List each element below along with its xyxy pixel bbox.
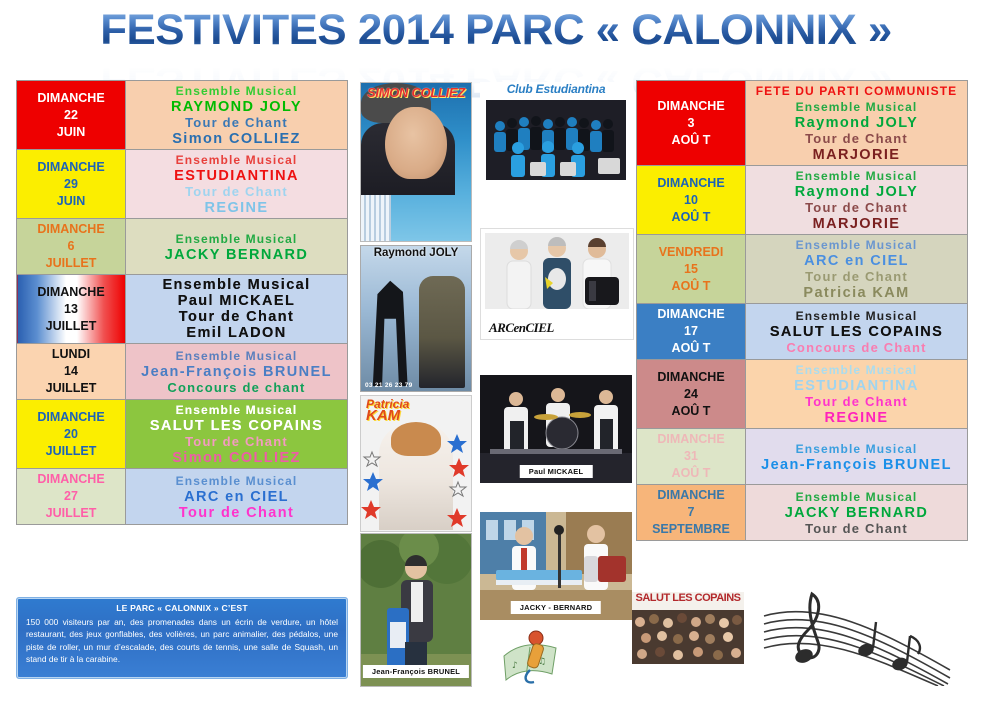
table-row: DIMANCHE17AOÛ TEnsemble MusicalSALUT LES… bbox=[637, 304, 968, 360]
microphone-songbook-icon: ♪ ♫ bbox=[500, 628, 564, 686]
orchestra-figures-icon bbox=[486, 100, 626, 180]
patricia-line2: KAM bbox=[366, 407, 400, 424]
date-num: 24 bbox=[639, 386, 743, 403]
photo-jean-francois-brunel: Jean-François BRUNEL bbox=[360, 533, 472, 687]
date-month: JUILLET bbox=[19, 255, 123, 272]
svg-text:♪: ♪ bbox=[512, 661, 518, 671]
date-num: 7 bbox=[639, 504, 743, 521]
schedule-left-body: DIMANCHE22JUINEnsemble MusicalRAYMOND JO… bbox=[17, 81, 348, 525]
table-row: DIMANCHE22JUINEnsemble MusicalRAYMOND JO… bbox=[17, 81, 348, 150]
date-month: AOÛ T bbox=[639, 340, 743, 357]
date-day: DIMANCHE bbox=[19, 221, 123, 238]
photo-phone-number: 03 21 26 23 79 bbox=[365, 382, 413, 389]
date-month: JUILLET bbox=[19, 318, 123, 335]
date-month: JUILLET bbox=[19, 443, 123, 460]
date-num: 13 bbox=[19, 301, 123, 318]
program-line: Simon COLLIEZ bbox=[128, 131, 345, 147]
date-month: AOÛ T bbox=[639, 278, 743, 295]
program-line: Ensemble Musical bbox=[748, 99, 965, 115]
program-line: Emil LADON bbox=[128, 325, 345, 341]
program-line: Raymond JOLY bbox=[748, 184, 965, 200]
photo-raymond-joly: Raymond JOLY 03 21 26 23 79 bbox=[360, 245, 472, 392]
park-info-body: 150 000 visiteurs par an, des promenades… bbox=[26, 616, 338, 666]
date-day: DIMANCHE bbox=[639, 487, 743, 504]
program-line: Raymond JOLY bbox=[748, 115, 965, 131]
table-row: DIMANCHE10AOÛ TEnsemble MusicalRaymond J… bbox=[637, 166, 968, 235]
table-row: DIMANCHE13JUILLETEnsemble MusicalPaul MI… bbox=[17, 275, 348, 344]
program-line: ESTUDIANTINA bbox=[748, 378, 965, 394]
program-cell: Ensemble MusicalSALUT LES COPAINSTour de… bbox=[126, 400, 348, 469]
date-cell: DIMANCHE3AOÛ T bbox=[637, 81, 746, 166]
program-line: SALUT LES COPAINS bbox=[748, 324, 965, 340]
photo-patricia-kam: Patricia KAM bbox=[360, 395, 472, 532]
program-line: Ensemble Musical bbox=[128, 83, 345, 99]
date-num: 15 bbox=[639, 261, 743, 278]
table-row: VENDREDI15AOÛ TEnsemble MusicalARC en CI… bbox=[637, 235, 968, 304]
photo-salut-les-copains: SALUT LES COPAINS bbox=[632, 592, 744, 664]
table-row: DIMANCHE31AOÛ TEnsemble MusicalJean-Fran… bbox=[637, 429, 968, 485]
date-num: 17 bbox=[639, 323, 743, 340]
date-num: 6 bbox=[19, 238, 123, 255]
program-line: Tour de Chant bbox=[128, 505, 345, 521]
program-cell: Ensemble MusicalARC en CIELTour de Chant bbox=[126, 469, 348, 525]
program-cell: Ensemble MusicalSALUT LES COPAINSConcour… bbox=[746, 304, 968, 360]
date-cell: DIMANCHE27JUILLET bbox=[17, 469, 126, 525]
photo-simon-colliez: SIMON COLLIEZ bbox=[360, 82, 472, 242]
schedule-right-body: DIMANCHE3AOÛ TFETE DU PARTI COMMUNISTEEn… bbox=[637, 81, 968, 541]
date-day: DIMANCHE bbox=[19, 409, 123, 426]
program-line: RAYMOND JOLY bbox=[128, 99, 345, 115]
program-cell: Ensemble MusicalJACKY BERNARD bbox=[126, 219, 348, 275]
table-row: DIMANCHE7SEPTEMBREEnsemble MusicalJACKY … bbox=[637, 485, 968, 541]
date-cell: VENDREDI15AOÛ T bbox=[637, 235, 746, 304]
program-line: Tour de Chant bbox=[128, 309, 345, 325]
program-cell: FETE DU PARTI COMMUNISTEEnsemble Musical… bbox=[746, 81, 968, 166]
date-cell: DIMANCHE29JUIN bbox=[17, 150, 126, 219]
photo-paul-mickael: Paul MICKAEL bbox=[480, 375, 632, 483]
program-line: Paul MICKAEL bbox=[128, 293, 345, 309]
program-line: REGINE bbox=[748, 410, 965, 426]
program-cell: Ensemble MusicalJean-François BRUNEL bbox=[746, 429, 968, 485]
date-cell: DIMANCHE20JUILLET bbox=[17, 400, 126, 469]
date-num: 31 bbox=[639, 448, 743, 465]
program-line: REGINE bbox=[128, 200, 345, 216]
program-line: Jean-François BRUNEL bbox=[748, 457, 965, 473]
schedule-table-right: DIMANCHE3AOÛ TFETE DU PARTI COMMUNISTEEn… bbox=[636, 80, 968, 541]
program-line: Ensemble Musical bbox=[128, 402, 345, 418]
program-line: FETE DU PARTI COMMUNISTE bbox=[748, 83, 965, 99]
photo-jacky-bernard: JACKY - BERNARD bbox=[480, 512, 632, 620]
program-line: Tour de Chant bbox=[748, 269, 965, 285]
program-line: Ensemble Musical bbox=[748, 489, 965, 505]
photo-caption-joly: Raymond JOLY bbox=[361, 247, 471, 259]
date-month: JUIN bbox=[19, 124, 123, 141]
program-line: Ensemble Musical bbox=[748, 237, 965, 253]
photo-detail bbox=[485, 233, 629, 309]
date-day: VENDREDI bbox=[639, 244, 743, 261]
program-line: Concours de Chant bbox=[748, 340, 965, 356]
date-month: AOÛ T bbox=[639, 132, 743, 149]
photo-caption-patricia: Patricia KAM bbox=[366, 398, 409, 422]
date-cell: DIMANCHE17AOÛ T bbox=[637, 304, 746, 360]
park-info-heading: LE PARC « CALONNIX » C’EST bbox=[26, 603, 338, 613]
program-line: Tour de Chant bbox=[748, 394, 965, 410]
program-line: Tour de Chant bbox=[748, 521, 965, 537]
date-month: JUILLET bbox=[19, 380, 123, 397]
photo-detail bbox=[361, 195, 391, 242]
photo-detail bbox=[632, 610, 744, 664]
table-row: DIMANCHE24AOÛ TEnsemble MusicalESTUDIANT… bbox=[637, 360, 968, 429]
photo-caption-brunel: Jean-François BRUNEL bbox=[363, 665, 469, 678]
program-cell: Ensemble MusicalESTUDIANTINATour de Chan… bbox=[746, 360, 968, 429]
table-row: LUNDI14JUILLETEnsemble MusicalJean-Franç… bbox=[17, 344, 348, 400]
table-row: DIMANCHE3AOÛ TFETE DU PARTI COMMUNISTEEn… bbox=[637, 81, 968, 166]
poster-header: FESTIVITES 2014 PARC « CALONNIX » FESTIV… bbox=[0, 4, 992, 74]
photo-caption-salut: SALUT LES COPAINS bbox=[632, 592, 744, 604]
program-line: Ensemble Musical bbox=[128, 231, 345, 247]
program-line: Tour de Chant bbox=[748, 131, 965, 147]
program-cell: Ensemble MusicalJACKY BERNARDTour de Cha… bbox=[746, 485, 968, 541]
program-line: Simon COLLIEZ bbox=[128, 450, 345, 466]
program-line: Ensemble Musical bbox=[748, 168, 965, 184]
table-row: DIMANCHE20JUILLETEnsemble MusicalSALUT L… bbox=[17, 400, 348, 469]
photo-caption-estudiantina: Club Estudiantina bbox=[480, 82, 632, 96]
photo-detail bbox=[385, 107, 447, 179]
program-cell: Ensemble MusicalPaul MICKAELTour de Chan… bbox=[126, 275, 348, 344]
keyboardist-garden-icon bbox=[361, 534, 471, 686]
photo-caption-arc: ARCenCIEL bbox=[489, 320, 554, 336]
date-cell: DIMANCHE10AOÛ T bbox=[637, 166, 746, 235]
date-num: 29 bbox=[19, 176, 123, 193]
date-num: 3 bbox=[639, 115, 743, 132]
date-month: AOÛ T bbox=[639, 209, 743, 226]
program-line: Ensemble Musical bbox=[128, 473, 345, 489]
date-day: LUNDI bbox=[19, 346, 123, 363]
date-month: SEPTEMBRE bbox=[639, 521, 743, 538]
schedule-table-left: DIMANCHE22JUINEnsemble MusicalRAYMOND JO… bbox=[16, 80, 348, 525]
program-cell: Ensemble MusicalESTUDIANTINATour de Chan… bbox=[126, 150, 348, 219]
date-num: 22 bbox=[19, 107, 123, 124]
date-day: DIMANCHE bbox=[639, 175, 743, 192]
date-num: 20 bbox=[19, 426, 123, 443]
program-line: Tour de Chant bbox=[128, 434, 345, 450]
program-line: Jean-François BRUNEL bbox=[128, 364, 345, 380]
date-num: 10 bbox=[639, 192, 743, 209]
program-line: Tour de Chant bbox=[748, 200, 965, 216]
date-day: DIMANCHE bbox=[639, 431, 743, 448]
date-cell: DIMANCHE7SEPTEMBRE bbox=[637, 485, 746, 541]
program-line: ARC en CIEL bbox=[128, 489, 345, 505]
photo-caption-mickael: Paul MICKAEL bbox=[520, 465, 593, 478]
mine-headframe-icon bbox=[367, 274, 425, 386]
date-day: DIMANCHE bbox=[639, 306, 743, 323]
date-num: 27 bbox=[19, 488, 123, 505]
program-line: MARJORIE bbox=[748, 147, 965, 163]
program-line: Ensemble Musical bbox=[128, 348, 345, 364]
program-line: Patricia KAM bbox=[748, 285, 965, 301]
crowd-icon bbox=[632, 610, 744, 664]
date-cell: DIMANCHE22JUIN bbox=[17, 81, 126, 150]
photo-club-estudiantina: Club Estudiantina bbox=[480, 82, 632, 190]
date-month: JUILLET bbox=[19, 505, 123, 522]
date-month: AOÛ T bbox=[639, 465, 743, 482]
date-cell: DIMANCHE24AOÛ T bbox=[637, 360, 746, 429]
program-line: ESTUDIANTINA bbox=[128, 168, 345, 184]
program-line: ARC en CIEL bbox=[748, 253, 965, 269]
table-row: DIMANCHE6JUILLETEnsemble MusicalJACKY BE… bbox=[17, 219, 348, 275]
date-cell: DIMANCHE13JUILLET bbox=[17, 275, 126, 344]
table-row: DIMANCHE29JUINEnsemble MusicalESTUDIANTI… bbox=[17, 150, 348, 219]
photo-caption-simon: SIMON COLLIEZ bbox=[361, 85, 471, 100]
date-day: DIMANCHE bbox=[639, 369, 743, 386]
program-cell: Ensemble MusicalARC en CIELTour de Chant… bbox=[746, 235, 968, 304]
photo-caption-jacky: JACKY - BERNARD bbox=[511, 601, 601, 614]
music-staff-notes-icon bbox=[760, 586, 960, 686]
program-line: Ensemble Musical bbox=[128, 152, 345, 168]
park-info-box: LE PARC « CALONNIX » C’EST 150 000 visit… bbox=[16, 597, 348, 679]
table-row: DIMANCHE27JUILLETEnsemble MusicalARC en … bbox=[17, 469, 348, 525]
date-day: DIMANCHE bbox=[19, 471, 123, 488]
program-cell: Ensemble MusicalRaymond JOLYTour de Chan… bbox=[746, 166, 968, 235]
page-title: FESTIVITES 2014 PARC « CALONNIX » bbox=[0, 4, 992, 56]
program-line: Tour de Chant bbox=[128, 115, 345, 131]
trio-musicians-icon bbox=[485, 233, 629, 309]
date-num: 14 bbox=[19, 363, 123, 380]
date-month: AOÛ T bbox=[639, 403, 743, 420]
program-line: Ensemble Musical bbox=[748, 441, 965, 457]
date-cell: DIMANCHE6JUILLET bbox=[17, 219, 126, 275]
date-day: DIMANCHE bbox=[19, 159, 123, 176]
program-line: Ensemble Musical bbox=[748, 308, 965, 324]
date-day: DIMANCHE bbox=[19, 90, 123, 107]
program-line: SALUT LES COPAINS bbox=[128, 418, 345, 434]
date-cell: LUNDI14JUILLET bbox=[17, 344, 126, 400]
photo-detail bbox=[486, 100, 626, 180]
program-line: Concours de chant bbox=[128, 380, 345, 396]
photo-detail bbox=[419, 276, 465, 388]
program-cell: Ensemble MusicalJean-François BRUNELConc… bbox=[126, 344, 348, 400]
program-line: JACKY BERNARD bbox=[128, 247, 345, 263]
photo-arc-en-ciel: ARCenCIEL bbox=[480, 228, 634, 340]
program-line: MARJORIE bbox=[748, 216, 965, 232]
program-line: Tour de Chant bbox=[128, 184, 345, 200]
date-day: DIMANCHE bbox=[19, 284, 123, 301]
program-line: Ensemble Musical bbox=[128, 277, 345, 293]
program-line: Ensemble Musical bbox=[748, 362, 965, 378]
program-cell: Ensemble MusicalRAYMOND JOLYTour de Chan… bbox=[126, 81, 348, 150]
date-day: DIMANCHE bbox=[639, 98, 743, 115]
date-month: JUIN bbox=[19, 193, 123, 210]
date-cell: DIMANCHE31AOÛ T bbox=[637, 429, 746, 485]
program-line: JACKY BERNARD bbox=[748, 505, 965, 521]
